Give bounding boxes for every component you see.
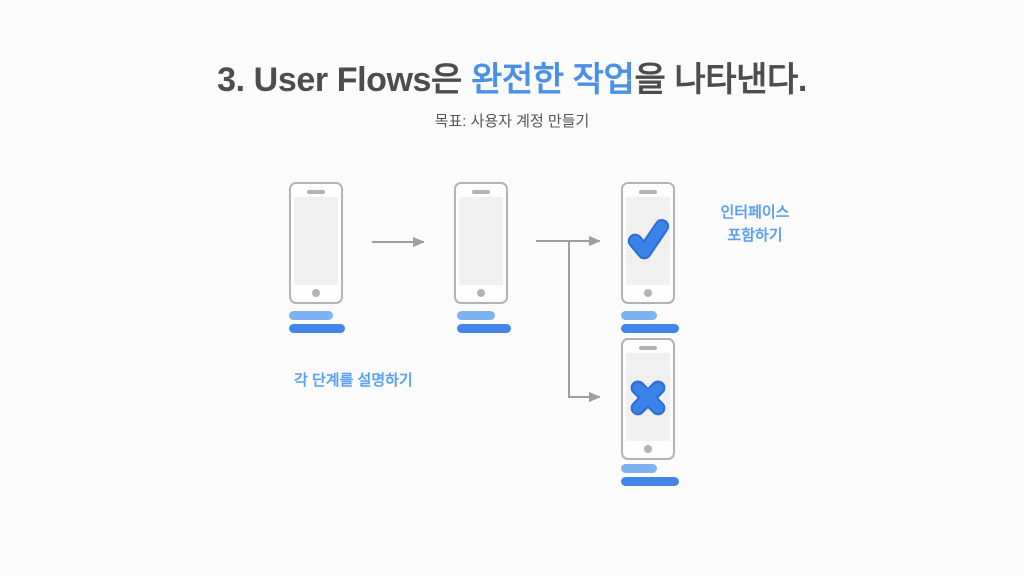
phone-screen bbox=[294, 197, 338, 285]
phone-failure[interactable] bbox=[621, 338, 675, 460]
title-prefix: 3. User Flows은 bbox=[217, 61, 471, 99]
caption-describe-each-step: 각 단계를 설명하기 bbox=[294, 369, 413, 392]
phone-step-1[interactable] bbox=[289, 182, 343, 304]
page-title: 3. User Flows은 완전한 작업을 나타낸다. bbox=[0, 52, 1024, 101]
bar-light bbox=[621, 464, 657, 473]
bar-dark bbox=[621, 477, 679, 486]
phone-home-button-icon bbox=[312, 289, 320, 297]
bar-dark bbox=[621, 324, 679, 333]
bar-dark bbox=[289, 324, 345, 333]
phone-screen bbox=[626, 353, 670, 441]
bar-light bbox=[621, 311, 657, 320]
page-subtitle: 목표: 사용자 계정 만들기 bbox=[0, 110, 1024, 131]
phone-step-2-bars bbox=[457, 311, 511, 337]
bar-dark bbox=[457, 324, 511, 333]
phone-speaker-icon bbox=[639, 346, 657, 350]
phone-step-1-bars bbox=[289, 311, 345, 337]
phone-success[interactable] bbox=[621, 182, 675, 304]
phone-speaker-icon bbox=[639, 190, 657, 194]
checkmark-icon bbox=[626, 197, 670, 285]
bar-light bbox=[457, 311, 495, 320]
caption-include-interfaces-line2: 포함하기 bbox=[707, 224, 803, 247]
bar-light bbox=[289, 311, 333, 320]
caption-include-interfaces-line1: 인터페이스 bbox=[707, 201, 803, 224]
title-highlight: 완전한 작업 bbox=[471, 61, 634, 99]
phone-screen bbox=[626, 197, 670, 285]
slide-canvas: 3. User Flows은 완전한 작업을 나타낸다. 목표: 사용자 계정 … bbox=[0, 0, 1024, 576]
phone-home-button-icon bbox=[477, 289, 485, 297]
caption-include-interfaces: 인터페이스 포함하기 bbox=[707, 201, 803, 248]
phone-home-button-icon bbox=[644, 289, 652, 297]
cross-icon bbox=[626, 353, 670, 441]
branch-2-to-outcomes bbox=[536, 241, 600, 397]
phone-step-2[interactable] bbox=[454, 182, 508, 304]
phone-speaker-icon bbox=[472, 190, 490, 194]
phone-screen bbox=[459, 197, 503, 285]
phone-home-button-icon bbox=[644, 445, 652, 453]
title-suffix: 을 나타낸다. bbox=[634, 61, 807, 99]
phone-success-bars bbox=[621, 311, 679, 337]
phone-failure-bars bbox=[621, 464, 679, 490]
phone-speaker-icon bbox=[307, 190, 325, 194]
